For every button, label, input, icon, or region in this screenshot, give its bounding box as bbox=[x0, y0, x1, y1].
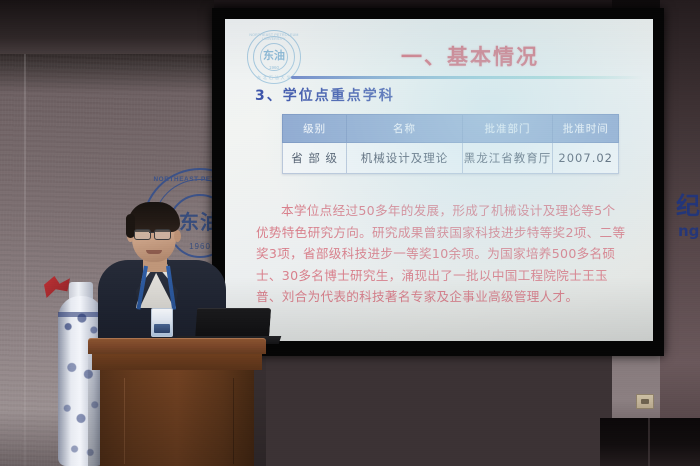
title-divider-rule bbox=[291, 76, 643, 79]
glasses-lens-left-icon bbox=[134, 229, 151, 240]
table-cell-authority: 黑龙江省教育厅 bbox=[462, 143, 553, 174]
slide-seal-arc-top: NORTHEAST PETROLEUM UNIVERSITY bbox=[248, 33, 300, 41]
discipline-table: 级别 名称 批准部门 批准时间 省 部 级 机械设计及理论 黑龙江省教育厅 20… bbox=[282, 114, 619, 174]
glasses-lens-right-icon bbox=[154, 229, 171, 240]
lectern-front-panel bbox=[124, 378, 234, 464]
right-banner-fragment-2: ng bbox=[678, 222, 699, 240]
wall-outlet bbox=[636, 394, 654, 409]
table-header-level: 级别 bbox=[283, 115, 347, 143]
table-header-authority: 批准部门 bbox=[462, 115, 553, 143]
lectern-lip bbox=[92, 352, 262, 370]
floor-seam bbox=[648, 418, 650, 466]
lectern-top-surface bbox=[88, 338, 266, 354]
conference-id-badge bbox=[151, 308, 173, 337]
table-cell-level: 省 部 级 bbox=[283, 143, 347, 174]
lectern bbox=[88, 338, 266, 466]
left-wall-upper-shadow bbox=[0, 0, 214, 54]
slide-seal-year: 1960 bbox=[248, 65, 300, 70]
table-header-date: 批准时间 bbox=[553, 115, 619, 143]
slide-title: 一、基本情况 bbox=[401, 41, 539, 71]
glasses-bridge-icon bbox=[149, 232, 154, 233]
table-cell-name: 机械设计及理论 bbox=[347, 143, 462, 174]
slide-subtitle: 3、学位点重点学科 bbox=[255, 85, 395, 105]
right-banner-fragment-1: 纪 bbox=[676, 186, 700, 221]
table-header-name: 名称 bbox=[347, 115, 462, 143]
presenter-mouth bbox=[146, 250, 162, 254]
slide-seal-core-text: 东油 bbox=[261, 46, 287, 66]
presentation-photo-scene: 纪 ng NORTHEAST PETROLEUM 东油 1960 东 北 石 油… bbox=[0, 0, 700, 466]
table-cell-date: 2007.02 bbox=[553, 143, 619, 174]
presenter-hair bbox=[128, 202, 180, 232]
floor-baseboard bbox=[600, 418, 700, 466]
projection-screen: NORTHEAST PETROLEUM UNIVERSITY 东油 1960 东… bbox=[225, 19, 653, 341]
slide-paragraph: 本学位点经过50多年的发展，形成了机械设计及理论等5个优势特色研究方向。研究成果… bbox=[256, 200, 628, 308]
table-row: 省 部 级 机械设计及理论 黑龙江省教育厅 2007.02 bbox=[283, 143, 619, 174]
table-header-row: 级别 名称 批准部门 批准时间 bbox=[283, 115, 619, 143]
presenter-ear-right bbox=[174, 230, 181, 242]
wall-seam bbox=[24, 54, 26, 466]
